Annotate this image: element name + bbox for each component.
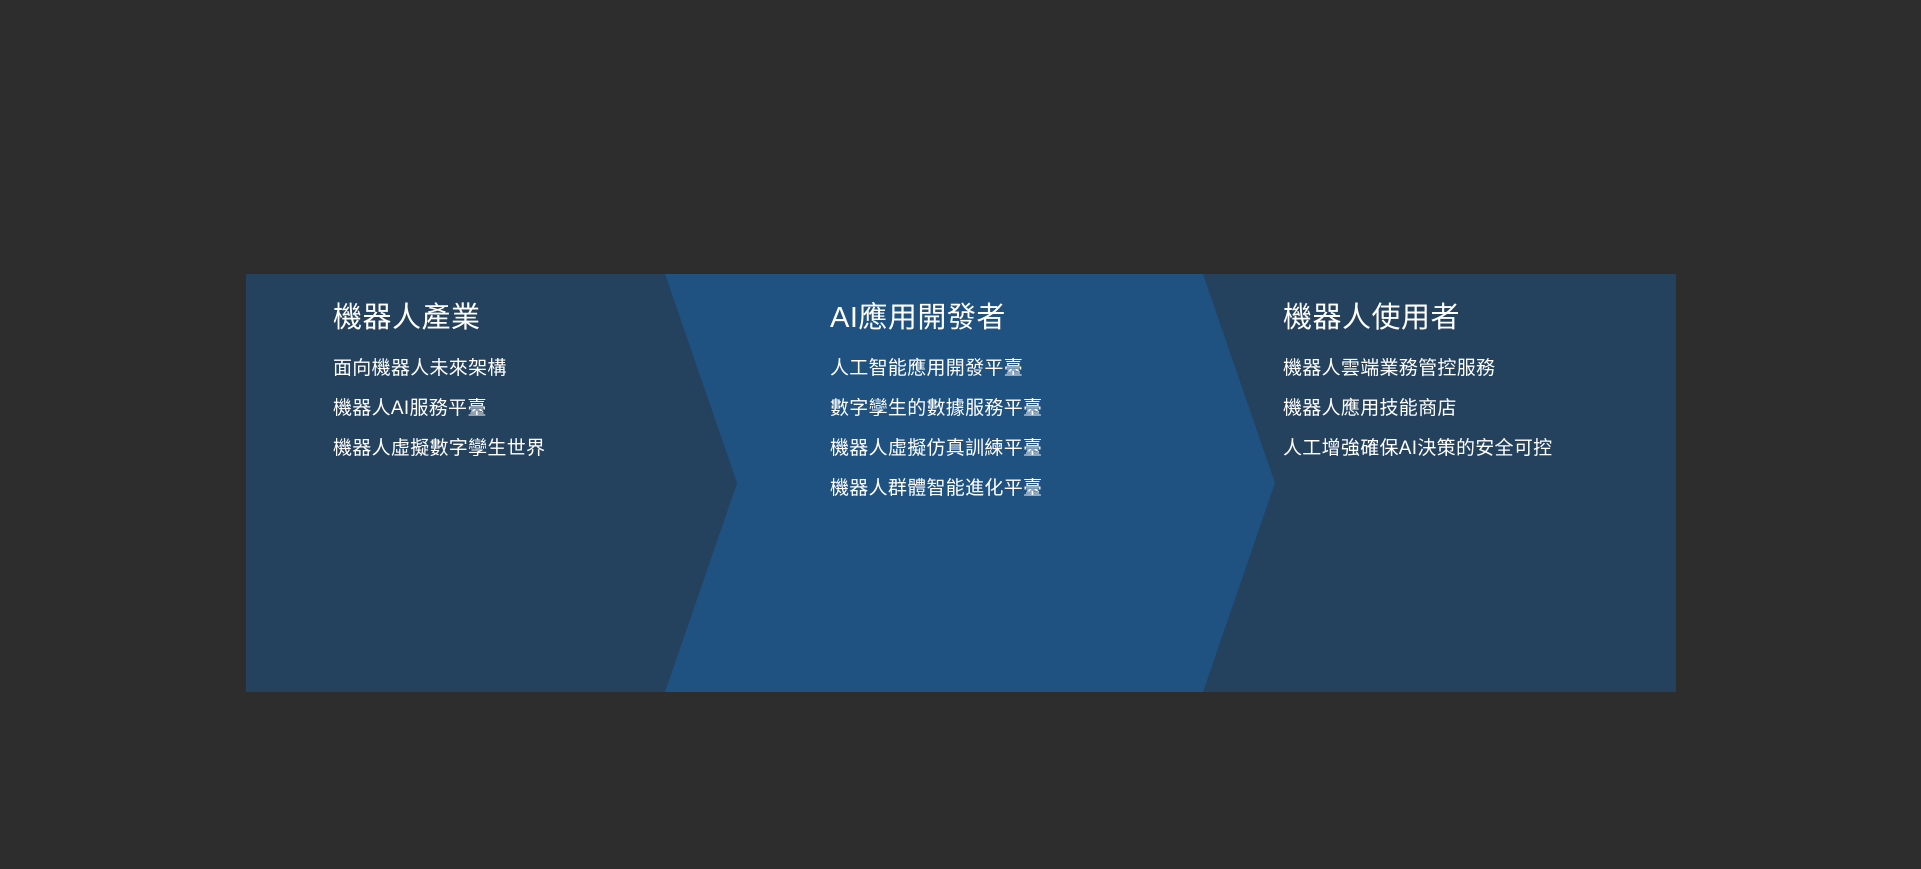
column-robot-user: 機器人使用者 機器人雲端業務管控服務 機器人應用技能商店 人工增強確保AI決策的…	[1283, 274, 1663, 692]
column-title: 機器人產業	[333, 298, 481, 338]
list-item: 機器人AI服務平臺	[333, 393, 545, 425]
list-item: 面向機器人未來架構	[333, 353, 545, 385]
list-item: 機器人雲端業務管控服務	[1283, 353, 1552, 385]
list-item: 人工增強確保AI決策的安全可控	[1283, 433, 1552, 465]
column-item-list: 面向機器人未來架構 機器人AI服務平臺 機器人虛擬數字孿生世界	[333, 353, 545, 473]
column-ai-app-developer: AI應用開發者 人工智能應用開發平臺 數字孿生的數據服務平臺 機器人虛擬仿真訓練…	[830, 274, 1230, 692]
list-item: 人工智能應用開發平臺	[830, 353, 1042, 385]
list-item: 機器人虛擬仿真訓練平臺	[830, 433, 1042, 465]
column-group: 機器人產業 面向機器人未來架構 機器人AI服務平臺 機器人虛擬數字孿生世界 AI…	[246, 274, 1676, 692]
list-item: 機器人群體智能進化平臺	[830, 473, 1042, 505]
column-item-list: 人工智能應用開發平臺 數字孿生的數據服務平臺 機器人虛擬仿真訓練平臺 機器人群體…	[830, 353, 1042, 513]
list-item: 機器人虛擬數字孿生世界	[333, 433, 545, 465]
column-item-list: 機器人雲端業務管控服務 機器人應用技能商店 人工增強確保AI決策的安全可控	[1283, 353, 1552, 473]
ecosystem-banner: 機器人產業 面向機器人未來架構 機器人AI服務平臺 機器人虛擬數字孿生世界 AI…	[246, 274, 1676, 692]
list-item: 機器人應用技能商店	[1283, 393, 1552, 425]
column-title: 機器人使用者	[1283, 298, 1460, 338]
list-item: 數字孿生的數據服務平臺	[830, 393, 1042, 425]
column-robot-industry: 機器人產業 面向機器人未來架構 機器人AI服務平臺 機器人虛擬數字孿生世界	[333, 274, 733, 692]
column-title: AI應用開發者	[830, 298, 1006, 338]
